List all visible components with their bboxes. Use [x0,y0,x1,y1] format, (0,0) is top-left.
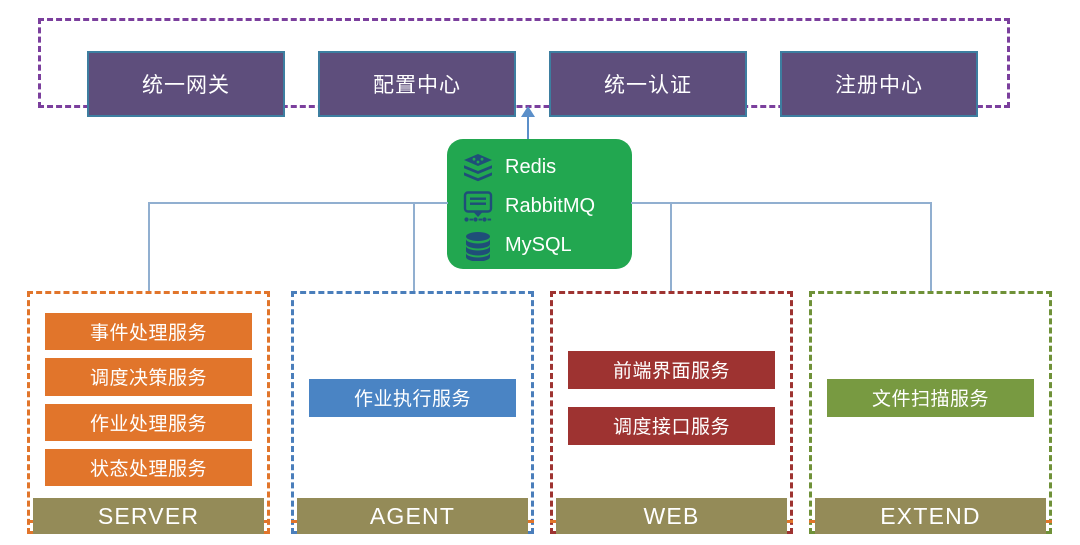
service-box[interactable]: 文件扫描服务 [827,379,1034,417]
middleware-label-rabbitmq: RabbitMQ [505,195,595,218]
group-web[interactable]: 前端界面服务 调度接口服务 WEB [550,291,793,534]
middleware-row-redis: Redis [461,149,632,186]
group-label-text: AGENT [370,503,455,530]
service-box[interactable]: 前端界面服务 [568,351,775,389]
connector-bus-right [631,202,931,204]
middleware-label-redis: Redis [505,156,556,179]
service-label: 调度接口服务 [613,412,730,439]
group-label-extend: EXTEND [815,498,1046,534]
group-server[interactable]: 事件处理服务 调度决策服务 作业处理服务 状态处理服务 SERVER [27,291,270,534]
service-box[interactable]: 调度接口服务 [568,407,775,445]
architecture-diagram: 统一网关 配置中心 统一认证 注册中心 [0,0,1080,545]
service-box[interactable]: 调度决策服务 [45,358,252,395]
group-label-text: EXTEND [880,503,981,530]
middleware-row-mysql: MySQL [461,227,632,264]
gateway-box-config-center[interactable]: 配置中心 [318,51,516,117]
gateway-box-unified-auth[interactable]: 统一认证 [549,51,747,117]
service-box[interactable]: 状态处理服务 [45,449,252,486]
connector-drop-server [148,202,150,292]
group-body: 作业执行服务 [309,305,516,490]
group-label-server: SERVER [33,498,264,534]
connector-bus-left [148,202,448,204]
gateway-box-registry-center[interactable]: 注册中心 [780,51,978,117]
group-body: 文件扫描服务 [827,305,1034,490]
arrow-up-line [527,114,529,140]
group-body: 事件处理服务 调度决策服务 作业处理服务 状态处理服务 [45,305,252,490]
connector-drop-agent [413,202,415,292]
service-box[interactable]: 作业处理服务 [45,404,252,441]
stacked-layers-icon [461,152,495,184]
middleware-label-mysql: MySQL [505,234,572,257]
group-extend[interactable]: 文件扫描服务 EXTEND [809,291,1052,534]
service-label: 文件扫描服务 [872,384,989,411]
group-label-agent: AGENT [297,498,528,534]
connector-drop-extend [930,202,932,292]
gateway-band: 统一网关 配置中心 统一认证 注册中心 [38,18,1010,108]
group-label-web: WEB [556,498,787,534]
service-label: 状态处理服务 [90,454,207,481]
middleware-row-rabbitmq: RabbitMQ [461,188,632,225]
service-box[interactable]: 事件处理服务 [45,313,252,350]
gateway-box-label: 统一认证 [604,69,692,99]
group-agent[interactable]: 作业执行服务 AGENT [291,291,534,534]
service-label: 调度决策服务 [90,363,207,390]
message-queue-icon [461,191,495,223]
gateway-box-label: 注册中心 [835,69,923,99]
gateway-box-label: 配置中心 [373,69,461,99]
service-label: 作业执行服务 [354,384,471,411]
service-label: 前端界面服务 [613,356,730,383]
gateway-box-label: 统一网关 [142,69,230,99]
group-label-text: WEB [644,503,700,530]
database-icon [461,230,495,262]
service-label: 作业处理服务 [90,409,207,436]
service-box[interactable]: 作业执行服务 [309,379,516,417]
gateway-box-unified-gateway[interactable]: 统一网关 [87,51,285,117]
service-label: 事件处理服务 [90,318,207,345]
group-body: 前端界面服务 调度接口服务 [568,305,775,490]
connector-drop-web [670,202,672,292]
group-label-text: SERVER [98,503,199,530]
middleware-card[interactable]: Redis RabbitMQ [447,139,632,269]
